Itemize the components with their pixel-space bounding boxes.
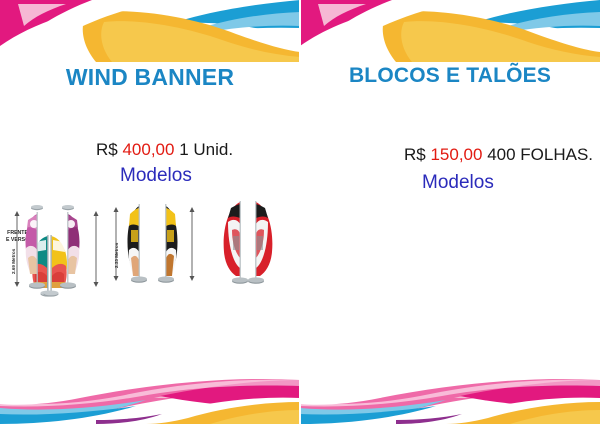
flyer-sheet: WIND BANNER (0, 0, 600, 424)
price-amount: 400,00 (122, 140, 174, 159)
price-unit: 1 Unid. (179, 140, 233, 159)
model-pink-teardrop (4, 196, 109, 296)
price-line-wind-banner: R$ 400,00 1 Unid. (96, 140, 233, 160)
price-amount: 150,00 (430, 145, 482, 164)
model-red-white (206, 196, 294, 296)
dimension-label-model-1: 2.69 Metros (11, 249, 16, 274)
dimension-label-model-2: 2.33 Metros (114, 243, 119, 268)
price-unit: 400 FOLHAS. (487, 145, 593, 164)
price-currency: R$ (96, 140, 118, 159)
hero-block-blocos-taloes: R$ 150,00 400 FOLHAS. Modelos (300, 112, 600, 204)
bottom-decoration-left (0, 362, 300, 424)
bottom-decoration-right (300, 362, 600, 424)
price-currency: R$ (404, 145, 426, 164)
top-decoration-right (300, 0, 600, 62)
panel-wind-banner: WIND BANNER (0, 0, 300, 424)
panel-title-blocos-taloes: BLOCOS E TALÕES (300, 64, 600, 88)
panel-blocos-taloes: BLOCOS E TALÕES R$ 150,00 400 FOLHAS. Mo… (300, 0, 600, 424)
models-row-wind-banner: 2.69 Metros (0, 196, 300, 296)
top-decoration-left (0, 0, 300, 62)
modelos-label-wind-banner: Modelos (120, 165, 192, 187)
price-line-blocos: R$ 150,00 400 FOLHAS. (404, 145, 593, 165)
panel-divider (299, 0, 301, 424)
model-yellow-black (108, 196, 203, 296)
panel-title-wind-banner: WIND BANNER (0, 64, 300, 91)
hero-block-wind-banner: FRENTE E VERSO R$ 400,00 1 Unid. Modelos (0, 112, 300, 204)
modelos-label-blocos: Modelos (422, 172, 494, 194)
